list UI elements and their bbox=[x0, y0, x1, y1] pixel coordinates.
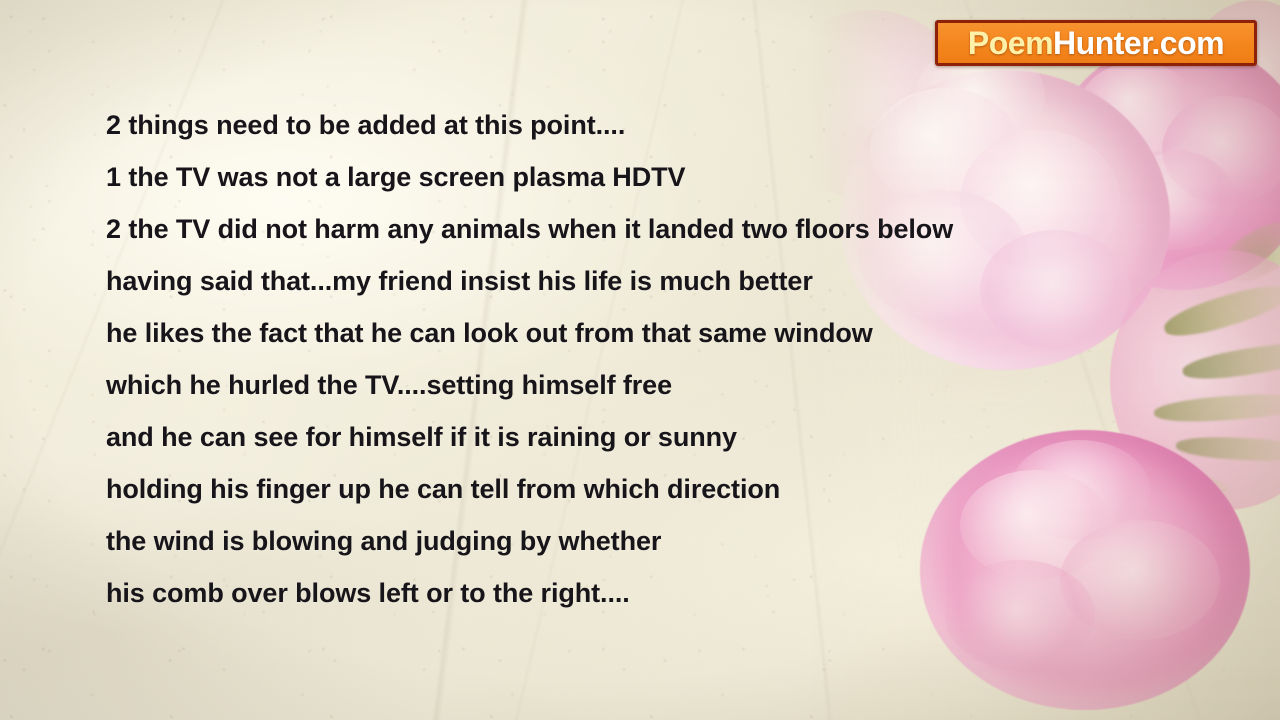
poemhunter-logo-badge[interactable]: PoemHunter.com bbox=[935, 20, 1257, 66]
poem-line: 2 the TV did not harm any animals when i… bbox=[106, 203, 1166, 255]
poem-line: 1 the TV was not a large screen plasma H… bbox=[106, 151, 1166, 203]
poem-line: the wind is blowing and judging by wheth… bbox=[106, 515, 1166, 567]
poem-image-poster: 2 things need to be added at this point.… bbox=[0, 0, 1280, 720]
poem-line: his comb over blows left or to the right… bbox=[106, 567, 1166, 619]
poem-line: he likes the fact that he can look out f… bbox=[106, 307, 1166, 359]
poem-line: having said that...my friend insist his … bbox=[106, 255, 1166, 307]
poem-line: 2 things need to be added at this point.… bbox=[106, 99, 1166, 151]
logo-word-hunter: Hunter.com bbox=[1053, 25, 1224, 61]
logo-word-poem: Poem bbox=[968, 25, 1053, 61]
poemhunter-logo-text: PoemHunter.com bbox=[968, 27, 1224, 59]
poem-line: which he hurled the TV....setting himsel… bbox=[106, 359, 1166, 411]
poem-text-block: 2 things need to be added at this point.… bbox=[106, 99, 1166, 619]
poem-line: holding his finger up he can tell from w… bbox=[106, 463, 1166, 515]
poem-line: and he can see for himself if it is rain… bbox=[106, 411, 1166, 463]
